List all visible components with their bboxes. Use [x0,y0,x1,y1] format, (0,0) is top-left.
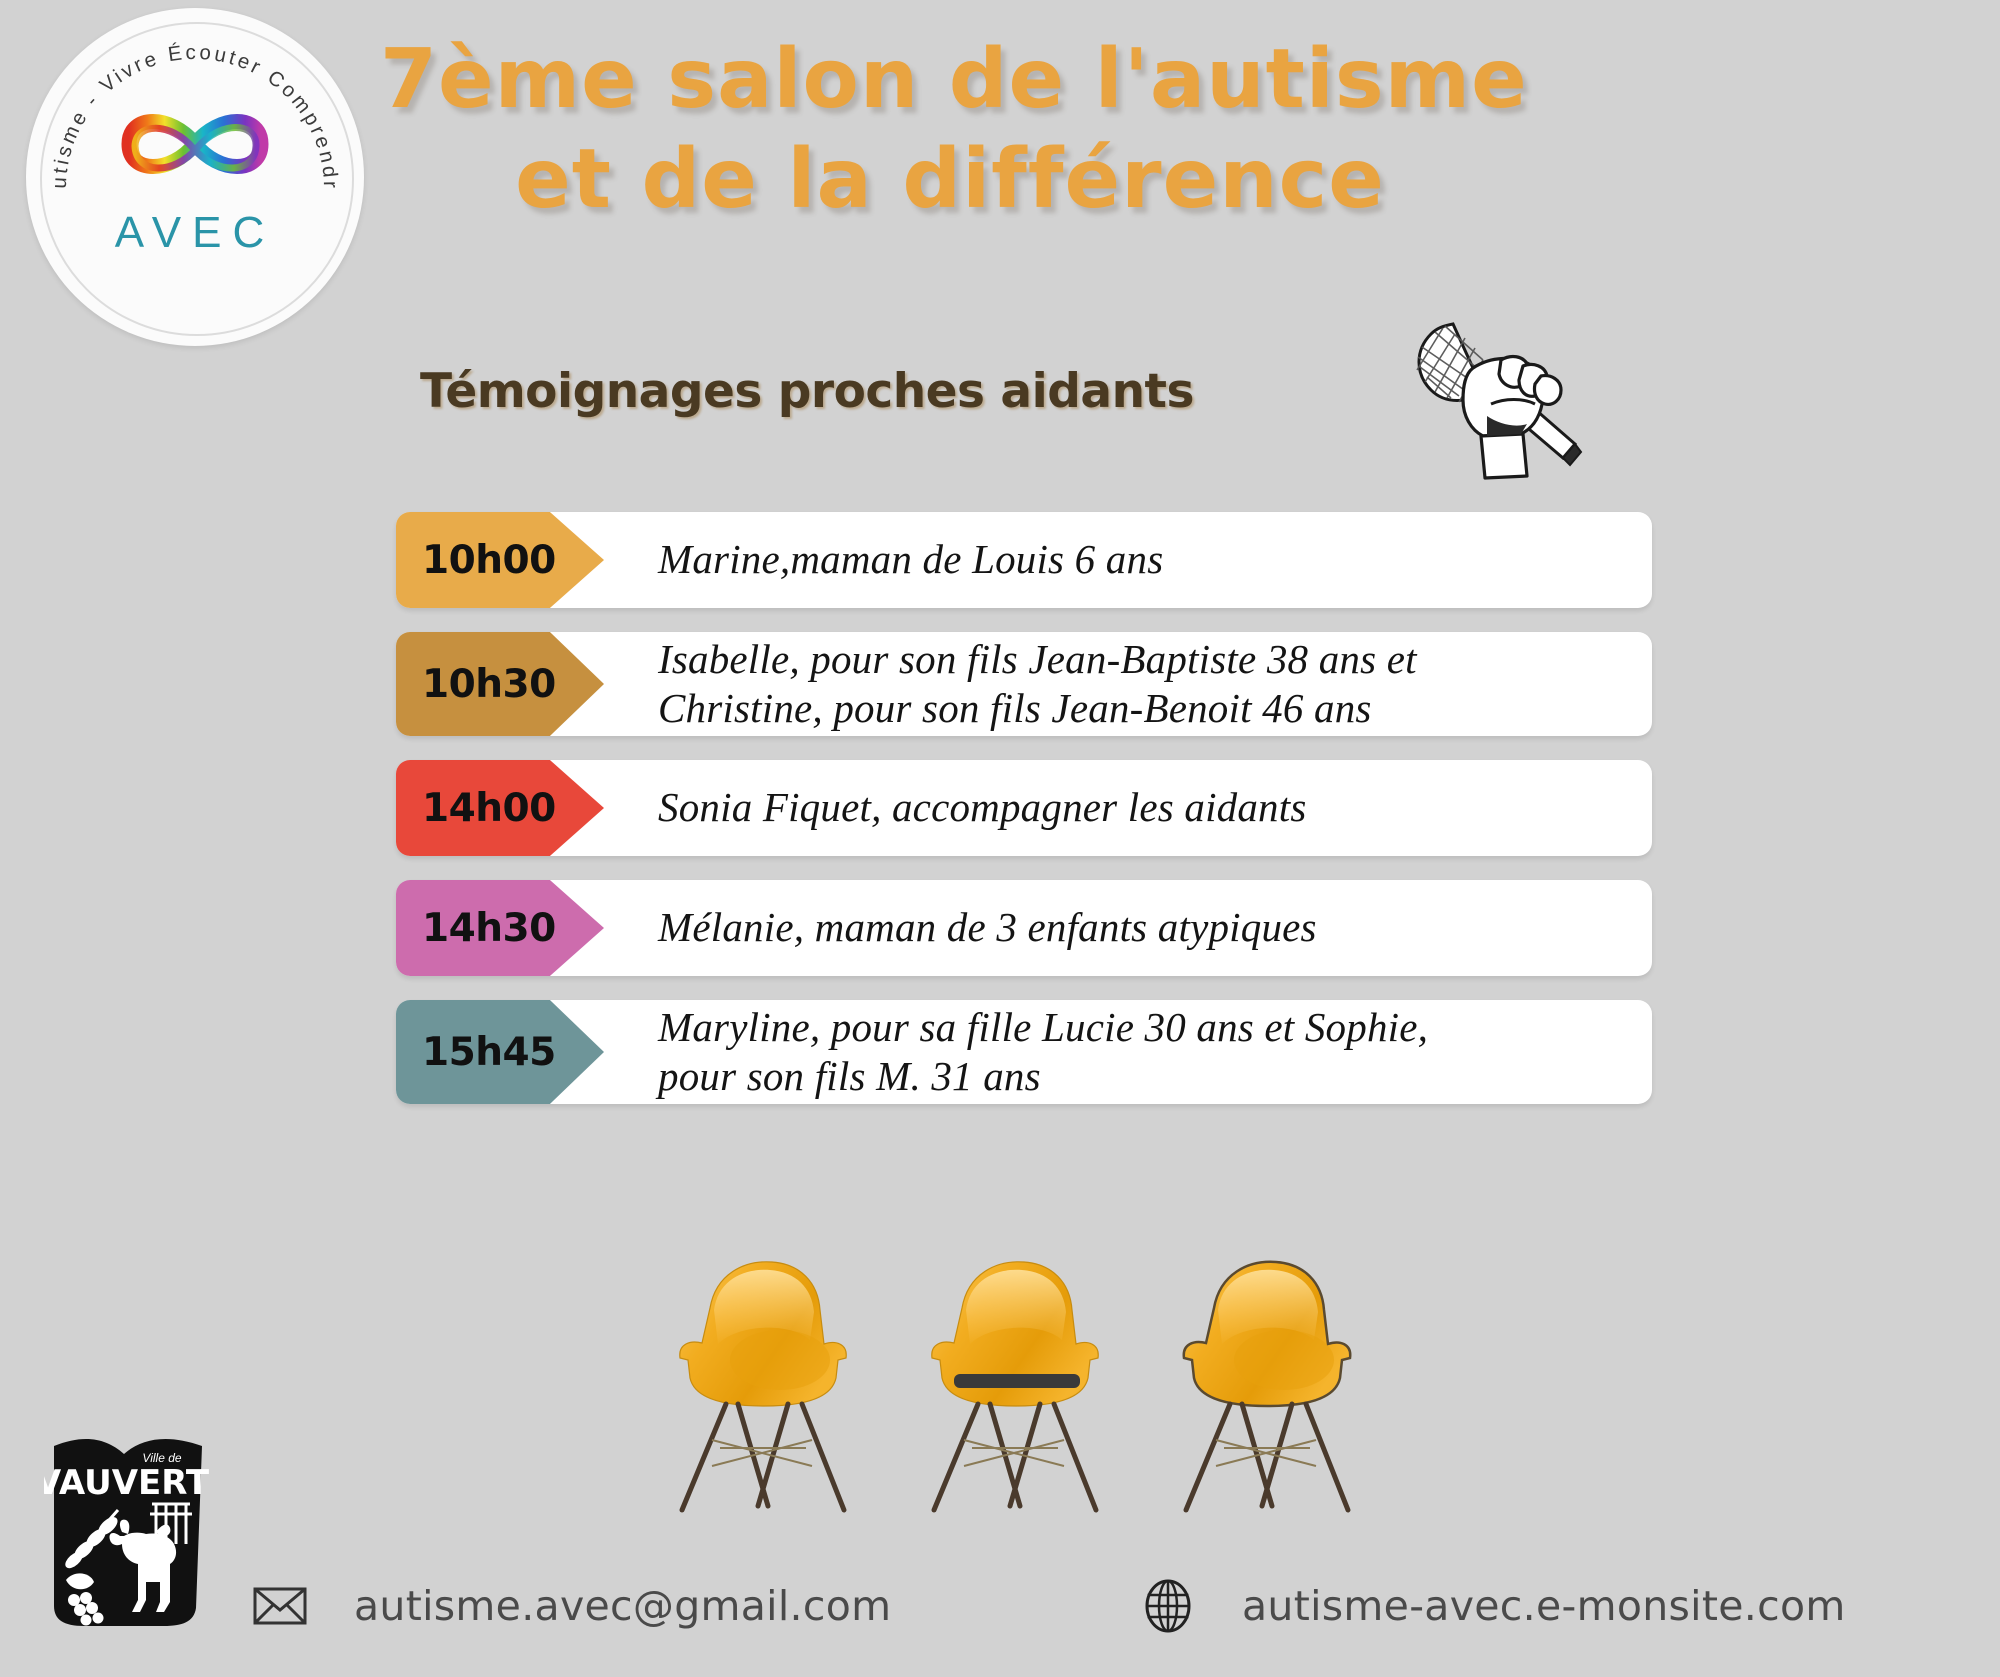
speaker-line: Isabelle, pour son fils Jean-Baptiste 38… [658,635,1632,684]
time-label: 15h45 [422,1030,556,1075]
contact-email[interactable]: autisme.avec@gmail.com [252,1578,891,1634]
schedule-row[interactable]: 14h30 Mélanie, maman de 3 enfants atypiq… [396,880,1652,976]
speaker-line: Marine,maman de Louis 6 ans [658,535,1632,584]
poster-canvas: Autisme - Vivre Écouter Comprendre [0,0,2000,1677]
time-label: 14h00 [422,786,556,831]
speaker-line: pour son fils M. 31 ans [658,1052,1632,1101]
chairs-illustration [660,1248,1580,1518]
hand-holding-microphone-icon [1395,312,1585,492]
schedule-row[interactable]: 15h45 Maryline, pour sa fille Lucie 30 a… [396,1000,1652,1104]
time-label: 14h30 [422,906,556,951]
website-text: autisme-avec.e-monsite.com [1242,1582,1846,1630]
speaker-line: Mélanie, maman de 3 enfants atypiques [658,903,1632,952]
email-text: autisme.avec@gmail.com [354,1582,891,1630]
vauvert-name: VAUVERT [44,1463,210,1503]
logo-word-avec: AVEC [26,208,364,258]
avec-logo: Autisme - Vivre Écouter Comprendre [26,8,364,346]
speaker-description: Isabelle, pour son fils Jean-Baptiste 38… [658,632,1632,736]
vauvert-city-logo: Ville de VAUVERT [44,1432,214,1632]
globe-icon [1140,1578,1196,1634]
title-line-2: et de la différence [380,130,1520,230]
envelope-icon [252,1578,308,1634]
speaker-description: Mélanie, maman de 3 enfants atypiques [658,880,1632,976]
speaker-line: Sonia Fiquet, accompagner les aidants [658,783,1632,832]
speaker-line: Maryline, pour sa fille Lucie 30 ans et … [658,1003,1632,1052]
contact-website[interactable]: autisme-avec.e-monsite.com [1140,1578,1846,1634]
time-label: 10h30 [422,662,556,707]
speaker-description: Sonia Fiquet, accompagner les aidants [658,760,1632,856]
title-line-1: 7ème salon de l'autisme [380,30,1520,130]
speaker-description: Maryline, pour sa fille Lucie 30 ans et … [658,1000,1632,1104]
schedule-row[interactable]: 14h00 Sonia Fiquet, accompagner les aida… [396,760,1652,856]
speaker-description: Marine,maman de Louis 6 ans [658,512,1632,608]
time-label: 10h00 [422,538,556,583]
schedule-row[interactable]: 10h30 Isabelle, pour son fils Jean-Bapti… [396,632,1652,736]
page-title: 7ème salon de l'autisme et de la différe… [380,30,1520,230]
rainbow-infinity-icon [105,96,285,192]
section-subtitle: Témoignages proches aidants [420,364,1194,419]
schedule-list: 10h00 Marine,maman de Louis 6 ans 10h30 … [396,512,1652,1128]
speaker-line: Christine, pour son fils Jean-Benoit 46 … [658,684,1632,733]
schedule-row[interactable]: 10h00 Marine,maman de Louis 6 ans [396,512,1652,608]
